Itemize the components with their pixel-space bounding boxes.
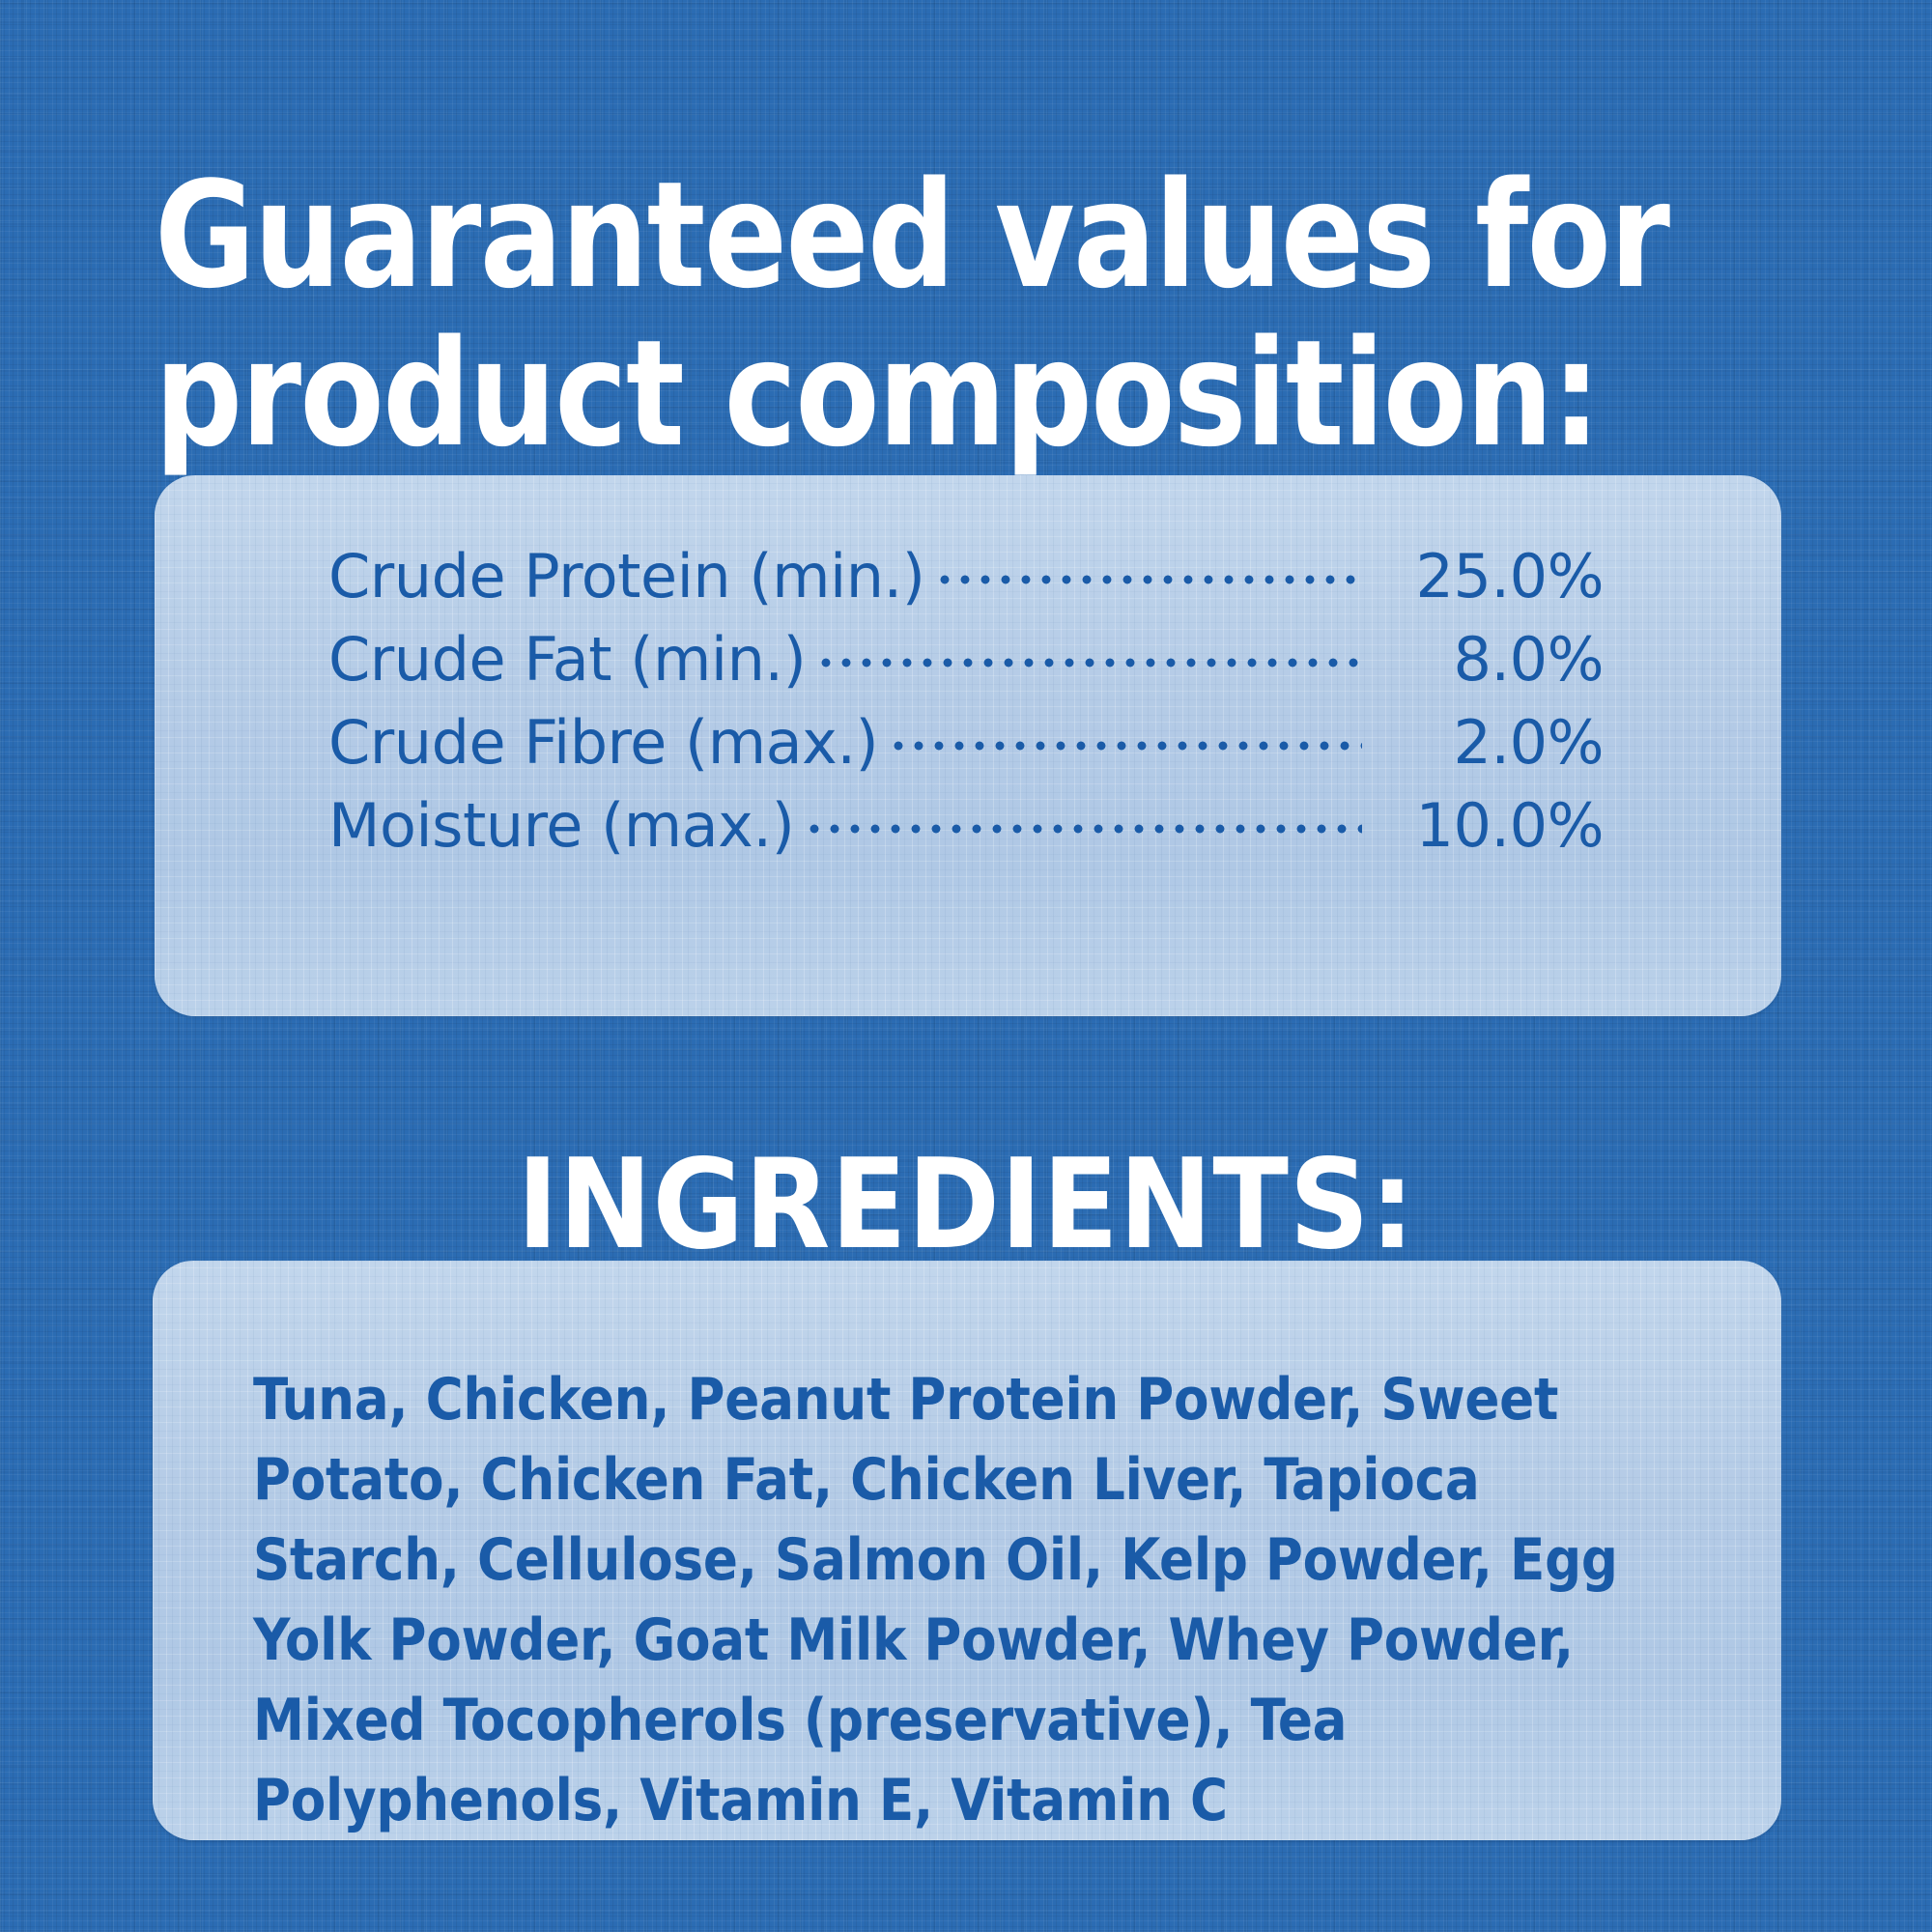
nutrition-row: Moisture (max.)10.0% xyxy=(328,790,1604,873)
nutrition-label: Crude Fat (min.) xyxy=(328,624,806,695)
nutrition-label: Crude Fibre (max.) xyxy=(328,707,878,778)
label-canvas: Guaranteed values for product compositio… xyxy=(0,0,1932,1932)
nutrition-value: 10.0% xyxy=(1376,790,1604,861)
nutrition-row: Crude Fat (min.)8.0% xyxy=(328,624,1604,707)
nutrition-value: 8.0% xyxy=(1376,624,1604,695)
nutrition-row: Crude Fibre (max.)2.0% xyxy=(328,707,1604,790)
dot-leader xyxy=(821,655,1362,672)
guaranteed-analysis-list: Crude Protein (min.)25.0%Crude Fat (min.… xyxy=(328,541,1604,873)
dot-leader xyxy=(810,821,1362,838)
dot-leader xyxy=(894,738,1362,755)
dot-leader xyxy=(940,572,1362,589)
ingredients-text: Tuna, Chicken, Peanut Protein Powder, Sw… xyxy=(253,1360,1662,1842)
nutrition-label: Crude Protein (min.) xyxy=(328,541,924,611)
nutrition-row: Crude Protein (min.)25.0% xyxy=(328,541,1604,624)
nutrition-value: 25.0% xyxy=(1376,541,1604,611)
nutrition-label: Moisture (max.) xyxy=(328,790,794,861)
page-title: Guaranteed values for product compositio… xyxy=(155,156,1682,473)
nutrition-value: 2.0% xyxy=(1376,707,1604,778)
ingredients-heading: INGREDIENTS: xyxy=(0,1144,1932,1267)
